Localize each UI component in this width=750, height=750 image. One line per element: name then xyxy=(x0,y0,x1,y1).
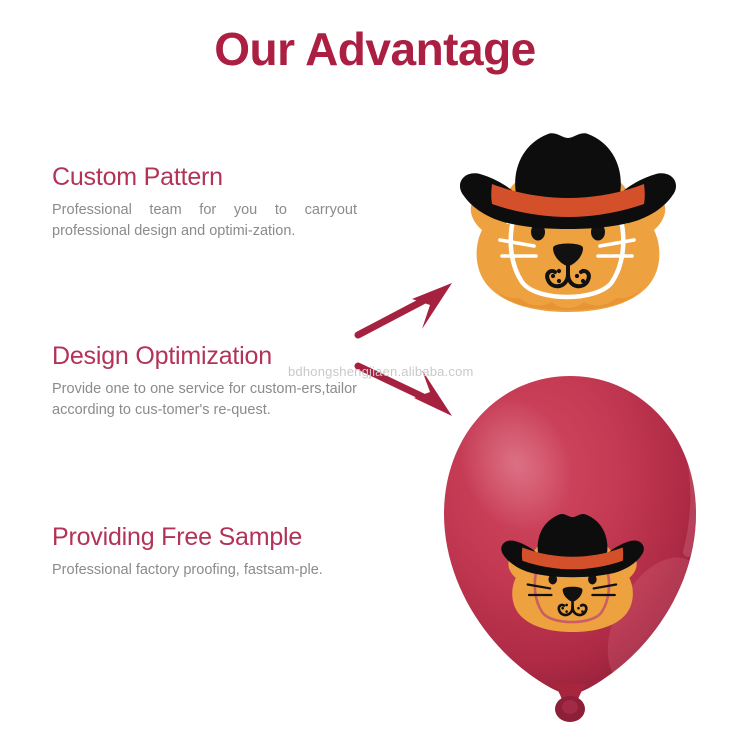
arrow-up-right-icon xyxy=(352,275,462,341)
balloon-knot xyxy=(554,684,586,722)
feature-block-design-optimization: Design Optimization Provide one to one s… xyxy=(52,342,357,421)
cowboy-hat xyxy=(460,133,676,229)
feature-heading: Providing Free Sample xyxy=(52,523,357,552)
red-latex-balloon xyxy=(420,372,720,724)
feature-body: Professional factory proofing, fastsam-p… xyxy=(52,560,357,581)
page-title: Our Advantage xyxy=(0,22,750,76)
promotional-banner: Our Advantage Custom Pattern Professiona… xyxy=(0,0,750,750)
feature-block-providing-free-sample: Providing Free Sample Professional facto… xyxy=(52,523,357,581)
feature-body: Professional team for you to carryout pr… xyxy=(52,200,357,242)
lion-cowboy-artwork xyxy=(452,112,682,317)
feature-block-custom-pattern: Custom Pattern Professional team for you… xyxy=(52,163,357,242)
feature-heading: Custom Pattern xyxy=(52,163,357,192)
feature-body: Provide one to one service for custom-er… xyxy=(52,379,357,421)
